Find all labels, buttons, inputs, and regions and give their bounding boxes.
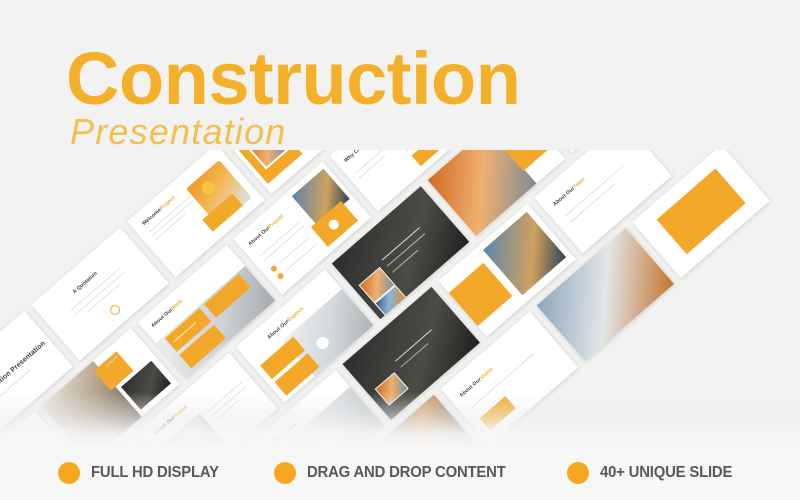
- page-subtitle: Presentation: [70, 112, 287, 152]
- feature-list: FULL HD DISPLAY DRAG AND DROP CONTENT 40…: [0, 446, 800, 500]
- circle-bullet-icon: [274, 462, 296, 484]
- feature-item: DRAG AND DROP CONTENT: [274, 462, 521, 484]
- hero-section: Construction Presentation: [0, 0, 800, 190]
- page-title: Construction: [66, 40, 520, 118]
- circle-bullet-icon: [58, 462, 80, 484]
- promo-banner: Construction Presentation Construction P…: [0, 0, 800, 500]
- feature-label: 40+ UNIQUE SLIDE: [600, 464, 732, 482]
- mosaic-fade-overlay: [0, 392, 800, 448]
- feature-label: DRAG AND DROP CONTENT: [307, 464, 506, 482]
- feature-label: FULL HD DISPLAY: [91, 464, 219, 482]
- feature-item: 40+ UNIQUE SLIDE: [567, 462, 742, 484]
- circle-bullet-icon: [567, 462, 589, 484]
- feature-item: FULL HD DISPLAY: [58, 462, 228, 484]
